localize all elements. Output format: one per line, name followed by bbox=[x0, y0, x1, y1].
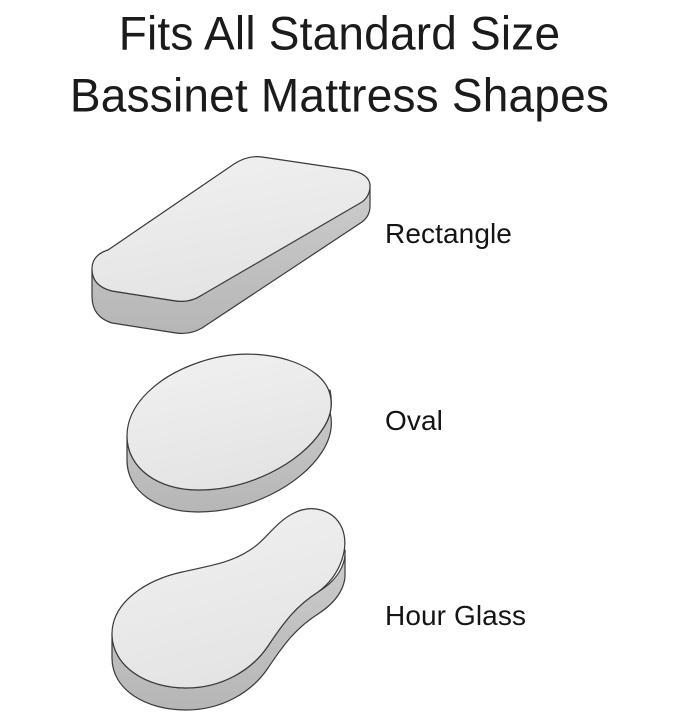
shape-label-hourglass: Hour Glass bbox=[385, 601, 526, 631]
shape-oval bbox=[127, 354, 331, 512]
hourglass-top-face bbox=[112, 509, 345, 688]
oval-top-face bbox=[127, 354, 331, 490]
page-title-line-2: Bassinet Mattress Shapes bbox=[0, 63, 679, 126]
rectangle-side-face bbox=[92, 184, 370, 333]
shape-label-oval: Oval bbox=[385, 406, 443, 436]
page-title-line-1: Fits All Standard Size bbox=[0, 1, 679, 64]
shape-hourglass bbox=[112, 509, 345, 710]
rectangle-top-face bbox=[92, 157, 370, 302]
shape-label-rectangle: Rectangle bbox=[385, 219, 512, 249]
oval-side-face bbox=[127, 390, 331, 512]
hourglass-side-face bbox=[112, 550, 345, 710]
shape-rectangle bbox=[92, 157, 370, 334]
page-title: Fits All Standard Size Bassinet Mattress… bbox=[0, 0, 679, 126]
